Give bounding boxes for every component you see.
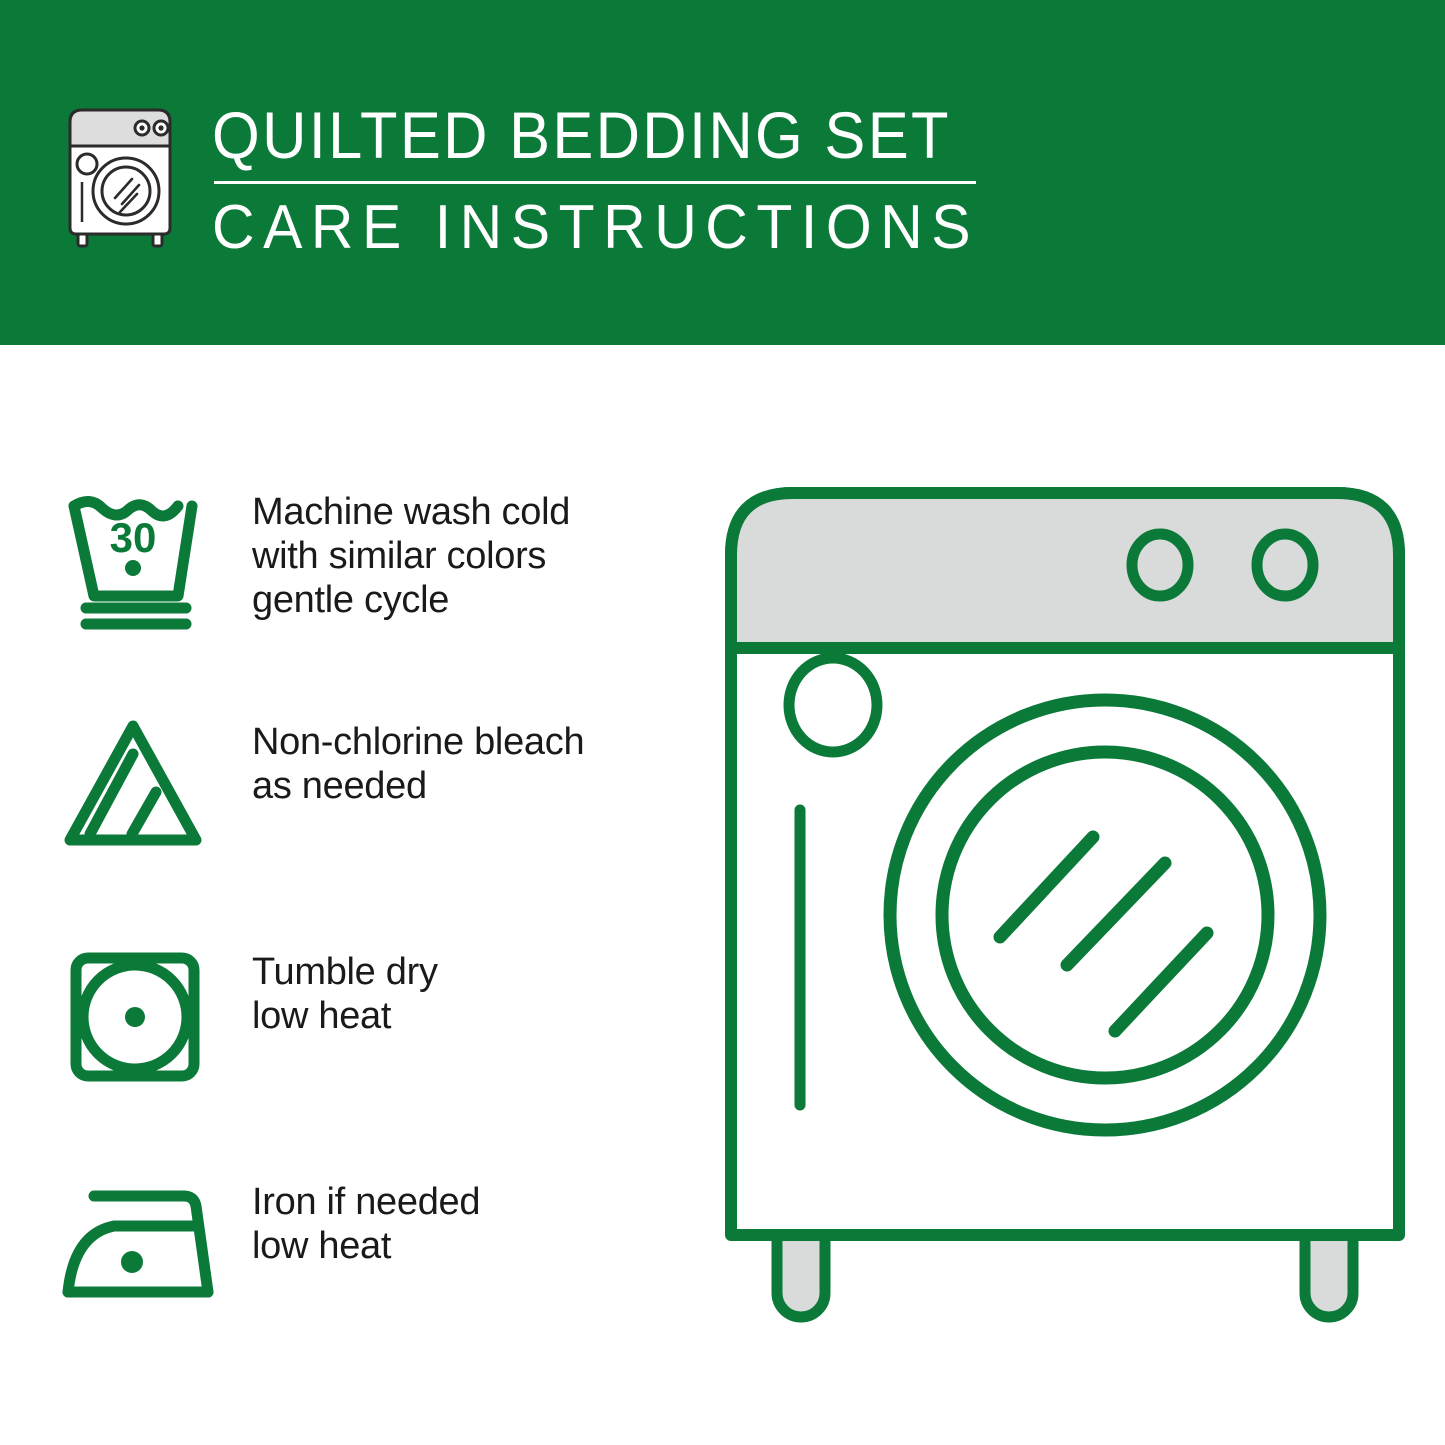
care-row-label: Machine wash cold with similar colors ge… (240, 480, 570, 622)
care-row-label: Non-chlorine bleach as needed (240, 710, 584, 808)
care-line: Iron if needed (252, 1180, 480, 1224)
title-divider (214, 181, 976, 184)
care-line: low heat (252, 994, 438, 1038)
body-area: 30 Machine wash cold with similar colors… (0, 345, 1445, 1445)
care-line: Non-chlorine bleach (252, 720, 584, 764)
header-text-block: QUILTED BEDDING SET CARE INSTRUCTIONS (212, 96, 1019, 262)
tumble-dry-low-icon (60, 940, 240, 1094)
header-banner: QUILTED BEDDING SET CARE INSTRUCTIONS (0, 0, 1445, 345)
iron-low-heat-icon (60, 1170, 240, 1324)
care-line: Tumble dry (252, 950, 438, 994)
header-content: QUILTED BEDDING SET CARE INSTRUCTIONS (60, 96, 1019, 262)
washer-power-button (789, 658, 877, 752)
care-row: Tumble dry low heat (60, 940, 700, 1170)
washer-knob-left (1132, 534, 1188, 596)
washer-knob-right (1257, 534, 1313, 596)
care-line: low heat (252, 1224, 480, 1268)
front-load-washing-machine-illustration (715, 465, 1415, 1365)
care-row: Non-chlorine bleach as needed (60, 710, 700, 940)
care-instructions-infographic: QUILTED BEDDING SET CARE INSTRUCTIONS 30 (0, 0, 1445, 1445)
care-row-label: Tumble dry low heat (240, 940, 438, 1038)
care-row: Iron if needed low heat (60, 1170, 700, 1400)
page-subtitle: CARE INSTRUCTIONS (212, 194, 979, 262)
non-chlorine-bleach-triangle-icon (60, 710, 240, 864)
care-line: with similar colors (252, 534, 570, 578)
care-line: Machine wash cold (252, 490, 570, 534)
washing-machine-icon (60, 96, 180, 256)
care-row: 30 Machine wash cold with similar colors… (60, 480, 700, 710)
care-row-label: Iron if needed low heat (240, 1170, 480, 1268)
page-title: QUILTED BEDDING SET (212, 100, 963, 170)
care-instruction-list: 30 Machine wash cold with similar colors… (60, 480, 700, 1400)
care-line: as needed (252, 764, 584, 808)
wash-temperature-label: 30 (110, 514, 157, 561)
washer-door-inner (942, 752, 1268, 1078)
care-line: gentle cycle (252, 578, 570, 622)
wash-tub-30-gentle-icon: 30 (60, 480, 240, 634)
